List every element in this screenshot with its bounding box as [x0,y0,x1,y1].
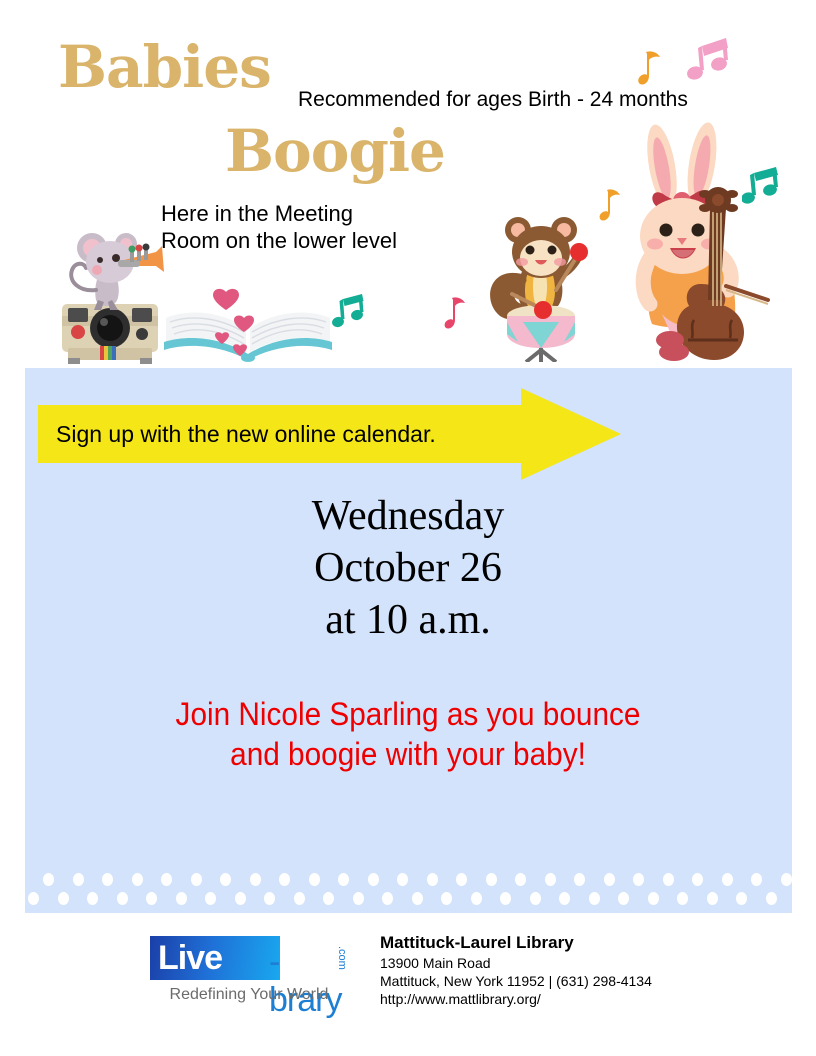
event-date: October 26 [0,542,816,594]
library-name: Mattituck-Laurel Library [380,932,800,954]
dot [323,892,334,905]
dot [736,892,747,905]
logo-live-text: Live [158,939,222,977]
dot [692,873,703,886]
dot [161,873,172,886]
dot [58,892,69,905]
logo-tagline: Redefining Your World [154,986,344,1004]
dot [766,892,777,905]
dot [677,892,688,905]
event-time: at 10 a.m. [0,594,816,646]
music-note-orange-icon [636,46,668,92]
promo-line-2: and boogie with your baby! [29,734,788,774]
library-street: 13900 Main Road [380,954,800,972]
dot [574,873,585,886]
event-date-block: Wednesday October 26 at 10 a.m. [0,490,816,646]
dot [412,892,423,905]
dot [397,873,408,886]
dot [264,892,275,905]
dot [191,873,202,886]
dot [441,892,452,905]
dot [220,873,231,886]
music-note-pink-icon [686,36,732,84]
age-recommendation-text: Recommended for ages Birth - 24 months [298,88,688,112]
dot [456,873,467,886]
dot [294,892,305,905]
dot [559,892,570,905]
page-title-line1: Babies [58,38,271,96]
dot [751,873,762,886]
dot [781,873,792,886]
dot [87,892,98,905]
library-city-phone: Mattituck, New York 11952 | (631) 298-41… [380,972,800,990]
dot [633,873,644,886]
dot [73,873,84,886]
library-website[interactable]: http://www.mattlibrary.org/ [380,990,800,1008]
location-line-2: Room on the lower level [161,227,397,254]
library-contact-info: Mattituck-Laurel Library 13900 Main Road… [380,932,800,1008]
dot [43,873,54,886]
location-line-1: Here in the Meeting [161,200,397,227]
location-text: Here in the Meeting Room on the lower le… [161,200,397,254]
dot [545,873,556,886]
dot [132,873,143,886]
dot-border-row-bottom [25,892,792,906]
promo-line-1: Join Nicole Sparling as you bounce [29,694,788,734]
dot [309,873,320,886]
dot [279,873,290,886]
dot [500,892,511,905]
logo-com-text: .com [336,946,348,970]
logo-brary-text: -brary [269,943,341,1019]
dot [338,873,349,886]
livebrary-logo[interactable]: Live -brary .com Redefining Your World [140,932,340,1010]
rabbit-cellist-illustration [622,118,770,366]
dot [515,873,526,886]
dot [471,892,482,905]
dot [117,892,128,905]
dot [353,892,364,905]
event-weekday: Wednesday [0,490,816,542]
music-note-teal-small-icon [332,293,368,335]
dot [530,892,541,905]
dot [589,892,600,905]
dot [486,873,497,886]
music-note-red-icon [443,293,471,335]
event-description-block: Join Nicole Sparling as you bounce and b… [29,694,788,774]
dot-border-row-top [25,873,792,887]
dot [604,873,615,886]
dot [427,873,438,886]
dot [663,873,674,886]
dot [382,892,393,905]
page-title-line2: Boogie [225,122,445,180]
dot [250,873,261,886]
dot [368,873,379,886]
dot [235,892,246,905]
dot [28,892,39,905]
squirrel-drummer-illustration [478,212,604,362]
signup-arrow-banner[interactable]: Sign up with the new online calendar. [38,388,621,480]
dot [176,892,187,905]
dot [707,892,718,905]
dot [648,892,659,905]
dot [146,892,157,905]
open-book-with-hearts-illustration [160,288,336,364]
dot [102,873,113,886]
dot [722,873,733,886]
arrow-head [521,388,621,480]
signup-banner-text: Sign up with the new online calendar. [56,405,521,463]
dot [618,892,629,905]
flyer-page: Babies Boogie Recommended for ages Birth… [0,0,816,1056]
dot [205,892,216,905]
